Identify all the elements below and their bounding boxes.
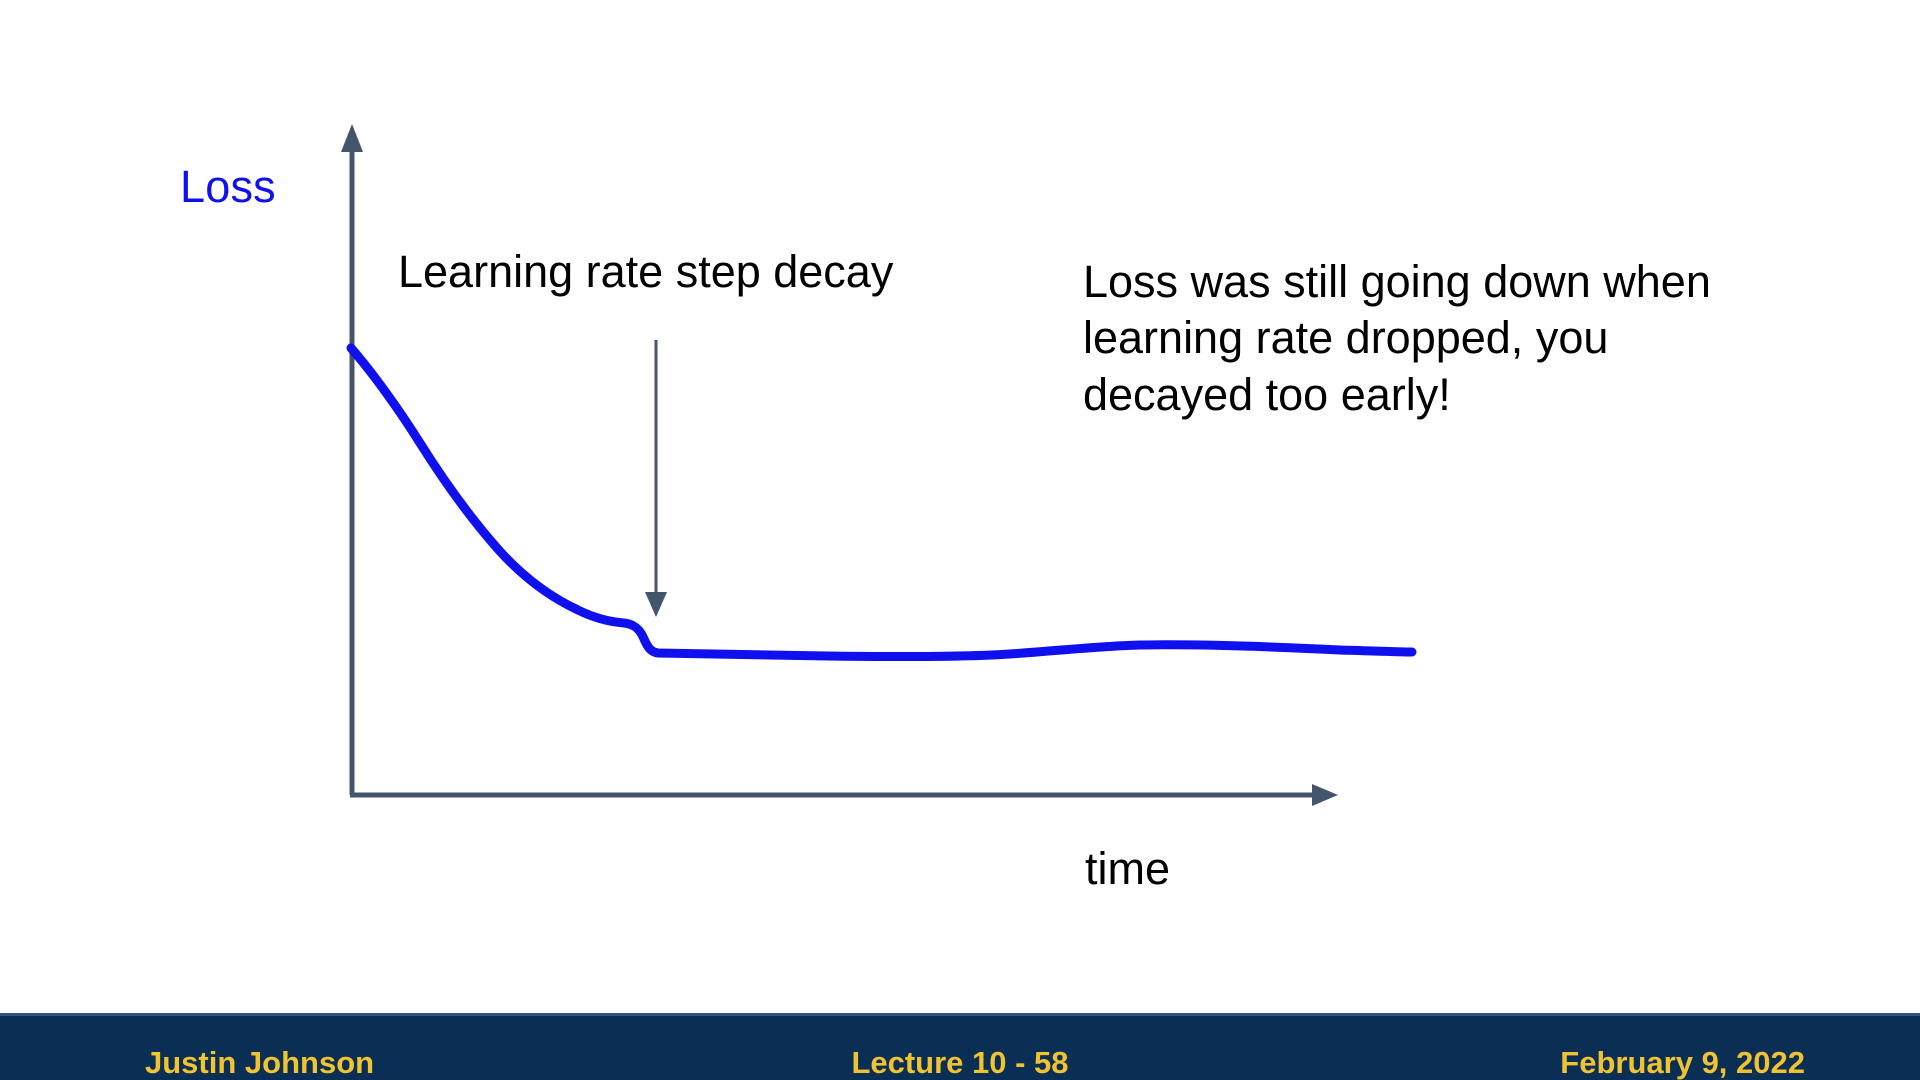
loss-curve-plot [0,0,1920,1010]
slide-canvas: Loss time Learning rate step decay Loss … [0,0,1920,1080]
x-axis-label: time [1085,846,1170,891]
annotation-line-3: decayed too early! [1083,367,1723,423]
annotation-decayed-too-early: Loss was still going down when learning … [1083,254,1723,423]
step-decay-arrowhead-icon [645,592,667,617]
y-axis-arrowhead-icon [341,124,363,152]
y-axis [341,124,363,795]
x-axis [350,784,1338,806]
annotation-step-decay-text: Learning rate step decay [398,249,893,294]
step-decay-pointer-arrow [645,340,667,617]
footer-date: February 9, 2022 [1560,1047,1805,1078]
y-axis-label: Loss [180,164,276,209]
slide-footer: Justin Johnson Lecture 10 - 58 February … [0,1013,1920,1080]
x-axis-arrowhead-icon [1312,784,1338,806]
annotation-line-1: Loss was still going down when [1083,254,1723,310]
annotation-line-2: learning rate dropped, you [1083,310,1723,366]
